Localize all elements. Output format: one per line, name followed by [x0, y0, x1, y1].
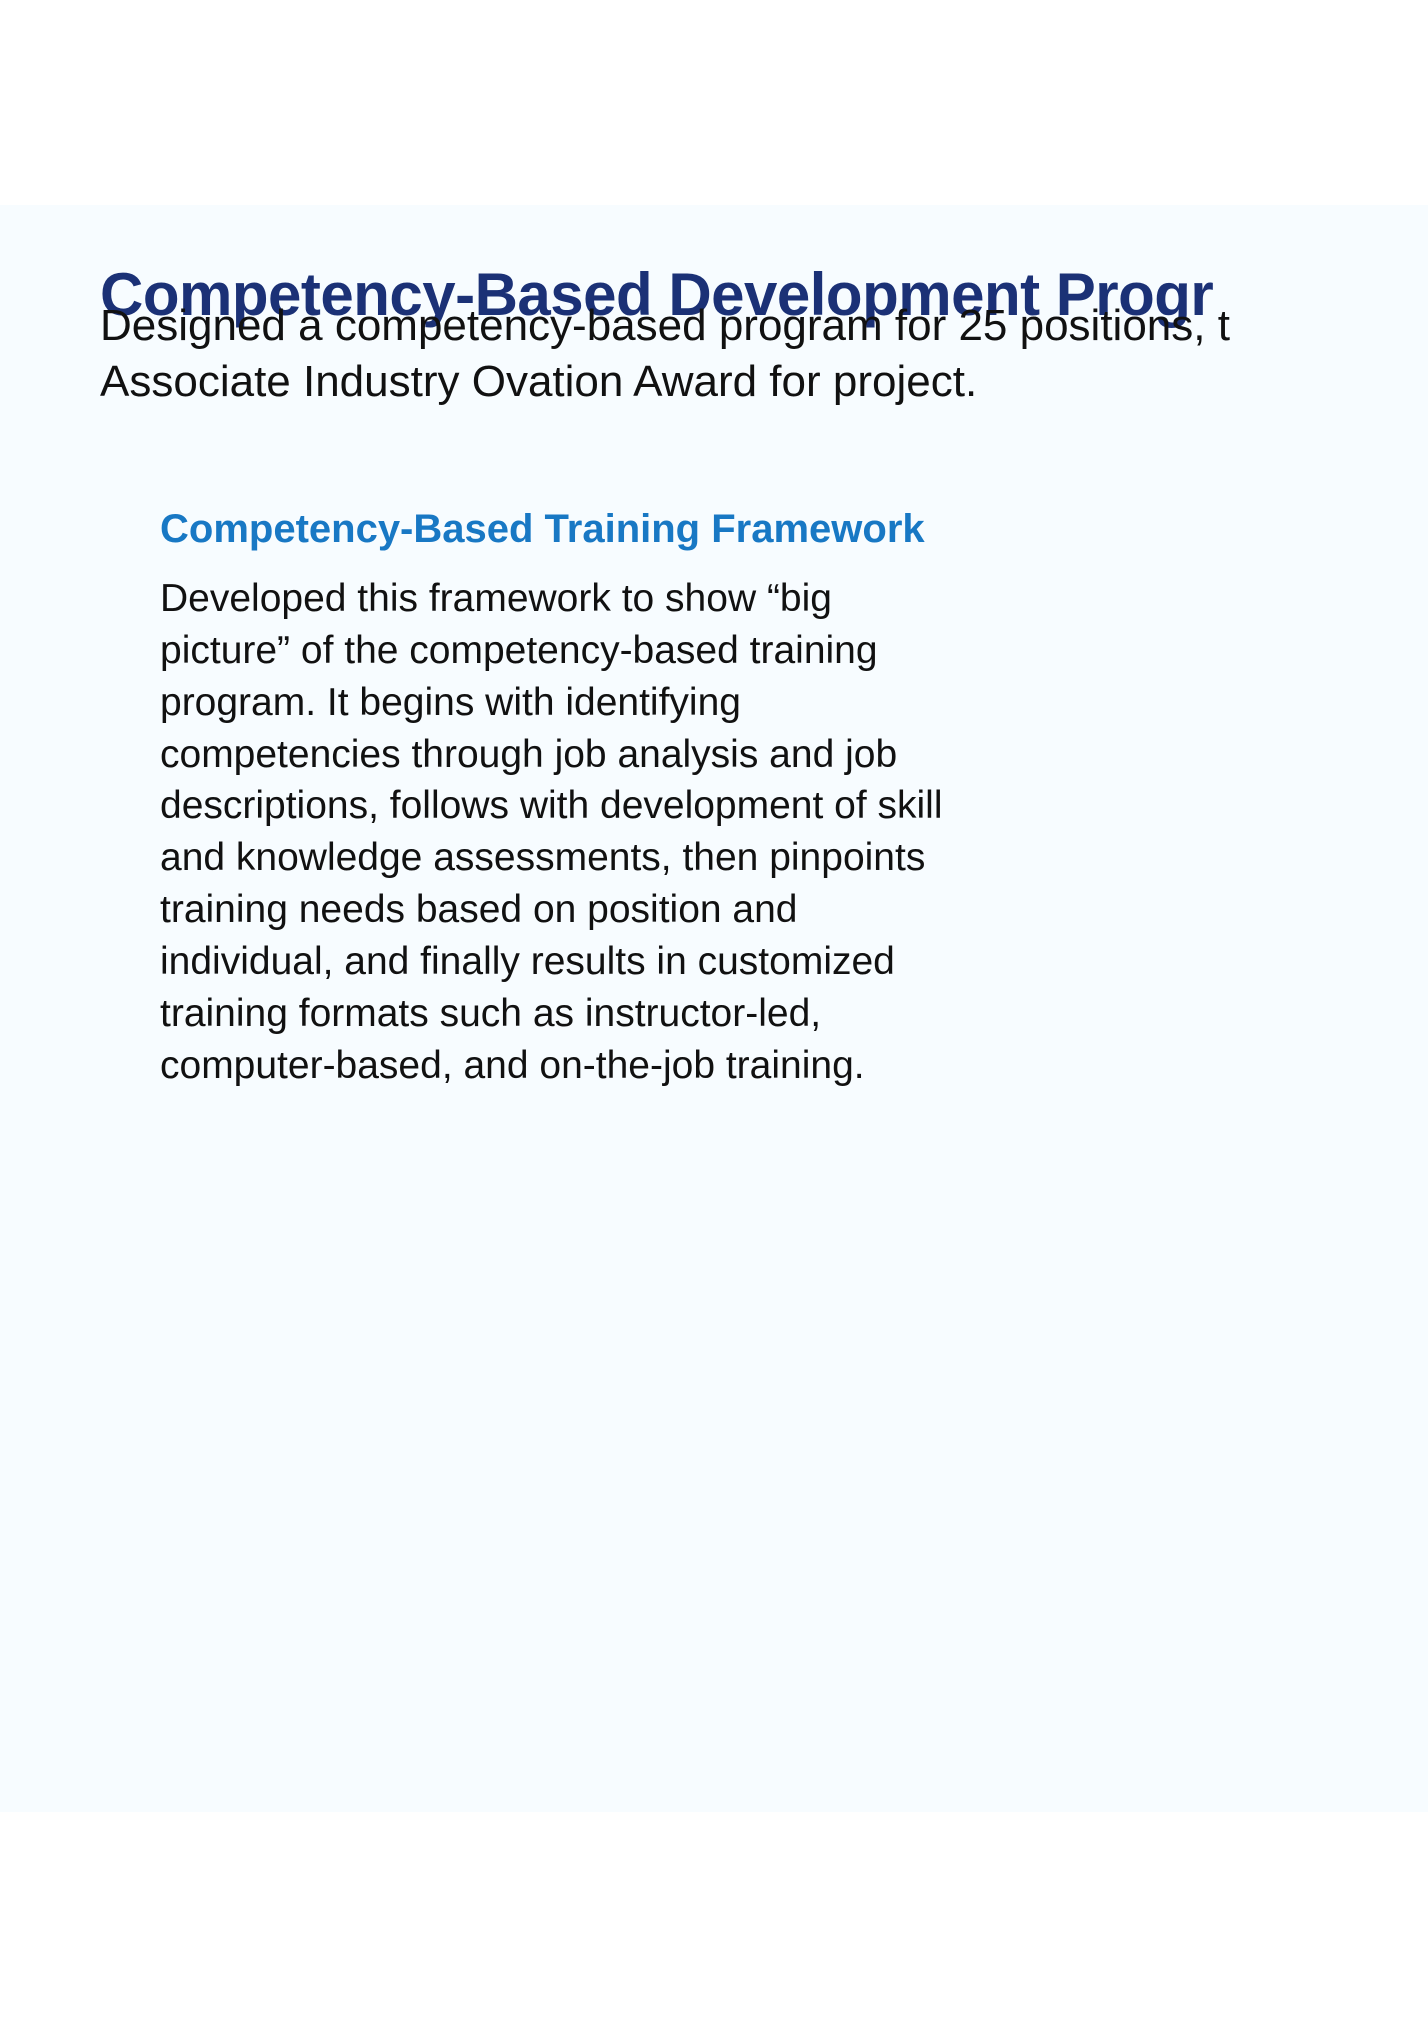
body-line: and knowledge assessments, then pinpoint…	[160, 832, 1160, 884]
body-line: computer-based, and on-the-job training.	[160, 1040, 1160, 1092]
body-line: picture” of the competency-based trainin…	[160, 625, 1160, 677]
body-line: Developed this framework to show “big	[160, 573, 1160, 625]
slide-subtitle-line: Associate Industry Ovation Award for pro…	[100, 354, 1428, 410]
page-bottom-margin	[0, 1812, 1428, 2018]
body-line: training formats such as instructor-led,	[160, 988, 1160, 1040]
content-block: Competency-Based Training Framework Deve…	[160, 505, 1428, 1092]
body-line: descriptions, follows with development o…	[160, 780, 1160, 832]
slide-subtitle-line: Designed a competency-based program for …	[100, 298, 1428, 354]
body-paragraph: Developed this framework to show “big pi…	[160, 573, 1160, 1092]
slide-subtitle: Designed a competency-based program for …	[100, 298, 1428, 411]
body-line: individual, and finally results in custo…	[160, 936, 1160, 988]
page-top-margin	[0, 0, 1428, 205]
slide-canvas: Competency-Based Development Progr Desig…	[0, 205, 1428, 1812]
body-line: competencies through job analysis and jo…	[160, 729, 1160, 781]
body-line: program. It begins with identifying	[160, 677, 1160, 729]
section-heading: Competency-Based Training Framework	[160, 505, 1428, 553]
body-line: training needs based on position and	[160, 884, 1160, 936]
